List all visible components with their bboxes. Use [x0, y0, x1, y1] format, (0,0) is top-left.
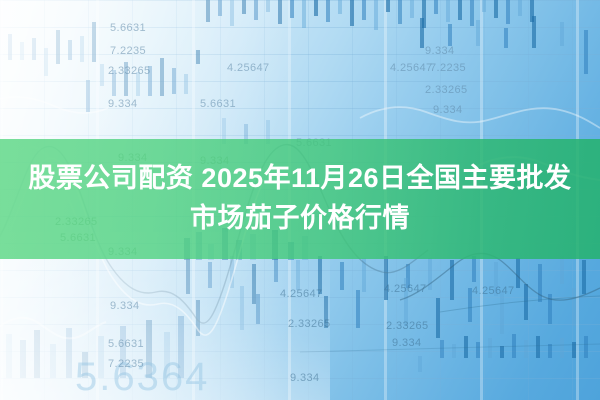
price-label: 4.25647: [280, 288, 323, 300]
price-label: 9.334: [425, 45, 455, 57]
price-label: 2.33265: [425, 84, 468, 96]
price-label: 5.6631: [200, 98, 236, 110]
price-label: 7.2235: [430, 62, 466, 74]
price-label: 2.33265: [288, 318, 331, 330]
price-label: 4.25647: [390, 62, 433, 74]
price-label: 9.334: [392, 337, 422, 349]
price-label: 4.25647: [384, 283, 427, 295]
price-label: 9.334: [108, 98, 138, 110]
price-label: 9.334: [433, 104, 463, 116]
price-label: 7.2235: [110, 45, 146, 57]
title-line-2: 市场茄子价格行情: [190, 201, 410, 237]
title-line-1: 股票公司配资 2025年11月26日全国主要批发: [28, 161, 571, 197]
price-label: 9.334: [290, 372, 320, 384]
price-label: 4.25647: [227, 62, 270, 74]
price-label: 2.33265: [386, 320, 429, 332]
banner-title: 股票公司配资 2025年11月26日全国主要批发 市场茄子价格行情: [0, 139, 600, 259]
price-label: 2.33265: [108, 65, 151, 77]
price-label: 5.6631: [108, 338, 144, 350]
price-label: 9.334: [110, 300, 140, 312]
promo-banner: 5.6364 5.6631 7.2235 2.33265 4.25647 4.2…: [0, 0, 600, 400]
price-label: 7.2235: [108, 358, 144, 370]
price-label: 4.25647: [472, 285, 515, 297]
price-label: 5.6631: [110, 22, 146, 34]
